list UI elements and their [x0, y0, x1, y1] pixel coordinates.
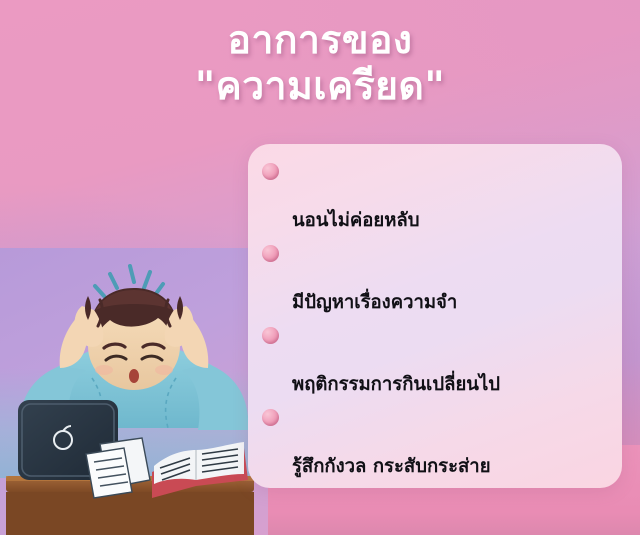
bullet-icon	[262, 245, 279, 262]
list-item: มีปัญหาเรื่องความจำ	[262, 240, 612, 315]
list-item: โกรธและโมโหง่าย	[262, 486, 612, 488]
stressed-student-illustration	[0, 248, 268, 535]
bullet-icon	[262, 409, 279, 426]
list-item: รู้สึกกังวล กระสับกระส่าย	[262, 404, 612, 479]
poster-root: อาการของ "ความเครียด" นอนไม่ค่อยหลับ มีป…	[0, 0, 640, 535]
list-item-label: นอนไม่ค่อยหลับ	[292, 210, 420, 231]
symptoms-list: นอนไม่ค่อยหลับ มีปัญหาเรื่องความจำ พฤติก…	[262, 158, 612, 488]
page-title-line-2: "ความเครียด"	[0, 64, 640, 110]
list-item-label: มีปัญหาเรื่องความจำ	[292, 292, 457, 313]
list-item-label: รู้สึกกังวล กระสับกระส่าย	[292, 456, 491, 477]
list-item-label: พฤติกรรมการกินเปลี่ยนไป	[292, 374, 500, 395]
illustration-artwork	[0, 248, 268, 535]
page-title: อาการของ "ความเครียด"	[0, 18, 640, 110]
list-item: พฤติกรรมการกินเปลี่ยนไป	[262, 322, 612, 397]
page-title-line-1: อาการของ	[228, 18, 413, 63]
bullet-icon	[262, 163, 279, 180]
bullet-icon	[262, 327, 279, 344]
list-item: นอนไม่ค่อยหลับ	[262, 158, 612, 233]
symptoms-card: นอนไม่ค่อยหลับ มีปัญหาเรื่องความจำ พฤติก…	[248, 144, 622, 488]
